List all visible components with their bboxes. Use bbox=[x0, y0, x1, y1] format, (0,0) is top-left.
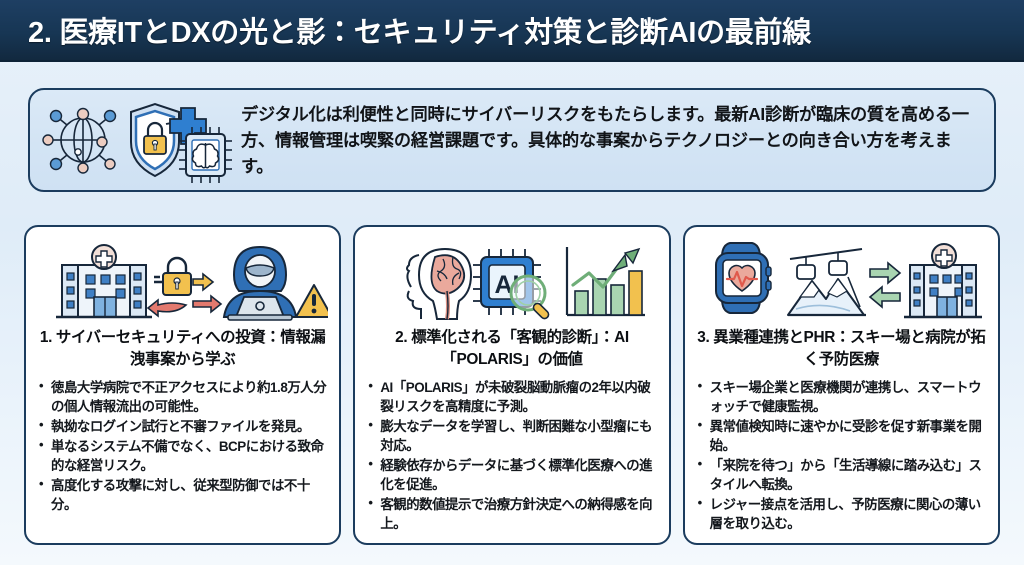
topic-cards-row: 1. サイバーセキュリティへの投資：情報漏洩事案から学ぶ 徳島大学病院で不正アク… bbox=[24, 225, 1000, 545]
intro-banner: デジタル化は利便性と同時にサイバーリスクをもたらします。最新AI診断が臨床の質を… bbox=[28, 88, 996, 192]
card-illustration-ai-diagnosis: AI bbox=[365, 233, 658, 325]
list-item: スキー場企業と医療機関が連携し、スマートウォッチで健康監視。 bbox=[697, 378, 988, 416]
list-item: AI「POLARIS」が未破裂脳動脈瘤の2年以内破裂リスクを高精度に予測。 bbox=[367, 378, 658, 416]
list-item: 経験依存からデータに基づく標準化医療への進化を促進。 bbox=[367, 456, 658, 494]
intro-illustration bbox=[40, 94, 235, 186]
card-bullet-list: 徳島大学病院で不正アクセスにより約1.8万人分の個人情報流出の可能性。 執拗なロ… bbox=[36, 376, 329, 535]
list-item: 異常値検知時に速やかに受診を促す新事業を開始。 bbox=[697, 417, 988, 455]
list-item: 高度化する攻撃に対し、従来型防御では不十分。 bbox=[38, 476, 329, 514]
hospital-lock-hacker-warning-icon bbox=[38, 235, 328, 323]
card-heading: 3. 異業種連携とPHR：スキー場と病院が拓く予防医療 bbox=[695, 325, 988, 376]
card-bullet-list: AI「POLARIS」が未破裂脳動脈瘤の2年以内破裂リスクを高精度に予測。 膨大… bbox=[365, 376, 658, 535]
brain-ai-chip-magnifier-growth-chart-icon: AI bbox=[367, 235, 657, 323]
card-illustration-phr bbox=[695, 233, 988, 325]
network-shield-lock-medical-ai-chip-icon bbox=[40, 94, 235, 186]
list-item: 執拗なログイン試行と不審ファイルを発見。 bbox=[38, 417, 329, 436]
list-item: 単なるシステム不備でなく、BCPにおける致命的な経営リスク。 bbox=[38, 437, 329, 475]
card-bullet-list: スキー場企業と医療機関が連携し、スマートウォッチで健康監視。 異常値検知時に速や… bbox=[695, 376, 988, 535]
list-item: 膨大なデータを学習し、判断困難な小型瘤にも対応。 bbox=[367, 417, 658, 455]
intro-description: デジタル化は利便性と同時にサイバーリスクをもたらします。最新AI診断が臨床の質を… bbox=[235, 101, 980, 179]
list-item: レジャー接点を活用し、予防医療に関心の薄い層を取り込む。 bbox=[697, 495, 988, 533]
card-illustration-cybersecurity bbox=[36, 233, 329, 325]
page-header-bar: 2. 医療ITとDXの光と影：セキュリティ対策と診断AIの最前線 bbox=[0, 0, 1024, 62]
list-item: 客観的数値提示で治療方針決定への納得感を向上。 bbox=[367, 495, 658, 533]
list-item: 「来院を待つ」から「生活導線に踏み込む」スタイルへ転換。 bbox=[697, 456, 988, 494]
card-heading: 1. サイバーセキュリティへの投資：情報漏洩事案から学ぶ bbox=[36, 325, 329, 376]
list-item: 徳島大学病院で不正アクセスにより約1.8万人分の個人情報流出の可能性。 bbox=[38, 378, 329, 416]
smartwatch-ski-resort-hospital-exchange-icon bbox=[696, 235, 986, 323]
topic-card-phr-collaboration[interactable]: 3. 異業種連携とPHR：スキー場と病院が拓く予防医療 スキー場企業と医療機関が… bbox=[683, 225, 1000, 545]
topic-card-ai-diagnosis[interactable]: AI 2. 標準化される「客観的診断」：AI「POLARIS」の価値 AI「PO… bbox=[353, 225, 670, 545]
topic-card-cybersecurity[interactable]: 1. サイバーセキュリティへの投資：情報漏洩事案から学ぶ 徳島大学病院で不正アク… bbox=[24, 225, 341, 545]
card-heading: 2. 標準化される「客観的診断」：AI「POLARIS」の価値 bbox=[365, 325, 658, 376]
page-title: 2. 医療ITとDXの光と影：セキュリティ対策と診断AIの最前線 bbox=[28, 9, 811, 51]
